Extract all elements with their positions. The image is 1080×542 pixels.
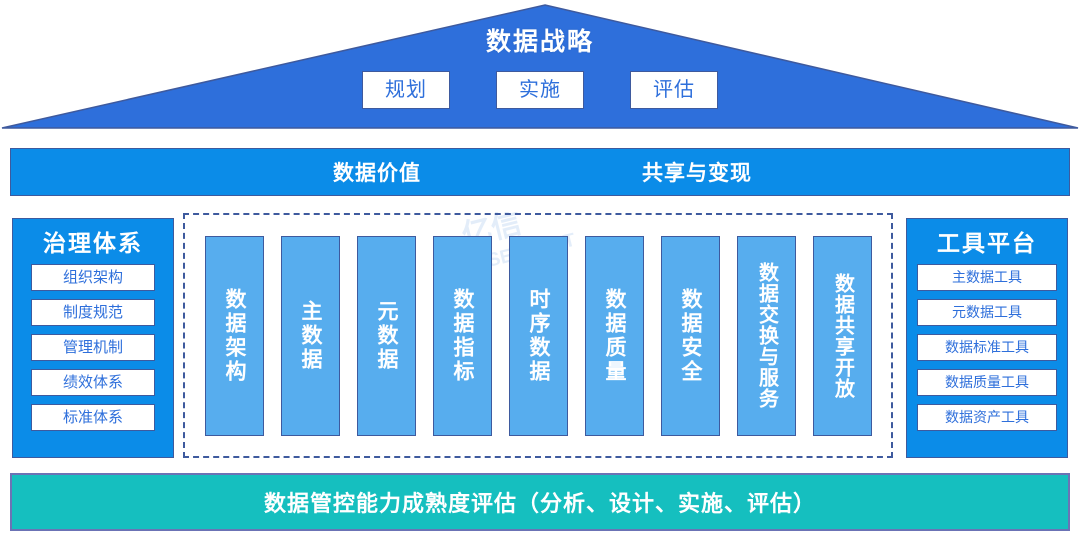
tool-item-metadata[interactable]: 元数据工具: [917, 299, 1057, 326]
tool-item-data-standard[interactable]: 数据标准工具: [917, 334, 1057, 361]
governance-system-column: 治理体系 组织架构 制度规范 管理机制 绩效体系 标准体系: [12, 218, 174, 458]
governance-item-org-structure[interactable]: 组织架构: [31, 264, 155, 291]
roof-box-group: 规划 实施 评估: [0, 71, 1080, 109]
tool-item-data-quality[interactable]: 数据质量工具: [917, 369, 1057, 396]
governance-system-title: 治理体系: [43, 224, 143, 258]
roof-triangle-icon: [0, 0, 1080, 135]
tool-item-data-asset[interactable]: 数据资产工具: [917, 404, 1057, 431]
data-value-label: 数据价值: [333, 157, 421, 187]
pillar-master-data[interactable]: 主数据: [281, 236, 340, 436]
pillar-data-exchange-service[interactable]: 数据交换与服务: [737, 236, 796, 436]
diagram-canvas: 数据战略 规划 实施 评估 数据价值 共享与变现 亿信 ESENSOFT 治理体…: [0, 0, 1080, 542]
pillar-metadata[interactable]: 元数据: [357, 236, 416, 436]
pillar-data-metrics[interactable]: 数据指标: [433, 236, 492, 436]
tool-platform-title: 工具平台: [937, 224, 1037, 258]
pillar-data-architecture[interactable]: 数据架构: [205, 236, 264, 436]
capability-pillars-area: 数据架构 主数据 元数据 数据指标 时序数据 数据质量 数据安全 数据交换与服务…: [183, 213, 893, 458]
governance-item-management[interactable]: 管理机制: [31, 334, 155, 361]
roof-section: 数据战略 规划 实施 评估: [0, 0, 1080, 135]
tool-platform-column: 工具平台 主数据工具 元数据工具 数据标准工具 数据质量工具 数据资产工具: [906, 218, 1068, 458]
pillar-data-security[interactable]: 数据安全: [661, 236, 720, 436]
pillar-data-sharing-open[interactable]: 数据共享开放: [813, 236, 872, 436]
governance-item-policy[interactable]: 制度规范: [31, 299, 155, 326]
sharing-monetization-label: 共享与变现: [642, 157, 752, 187]
roof-box-implementation[interactable]: 实施: [496, 71, 584, 109]
tool-item-master-data[interactable]: 主数据工具: [917, 264, 1057, 291]
roof-box-planning[interactable]: 规划: [362, 71, 450, 109]
roof-box-evaluation[interactable]: 评估: [630, 71, 718, 109]
governance-item-standards[interactable]: 标准体系: [31, 404, 155, 431]
pillar-timeseries-data[interactable]: 时序数据: [509, 236, 568, 436]
data-value-bar: 数据价值 共享与变现: [10, 148, 1070, 196]
pillar-data-quality[interactable]: 数据质量: [585, 236, 644, 436]
governance-item-performance[interactable]: 绩效体系: [31, 369, 155, 396]
maturity-assessment-bar: 数据管控能力成熟度评估（分析、设计、实施、评估）: [10, 473, 1070, 531]
pillar-row: 数据架构 主数据 元数据 数据指标 时序数据 数据质量 数据安全 数据交换与服务…: [185, 215, 891, 456]
roof-title: 数据战略: [0, 22, 1080, 58]
